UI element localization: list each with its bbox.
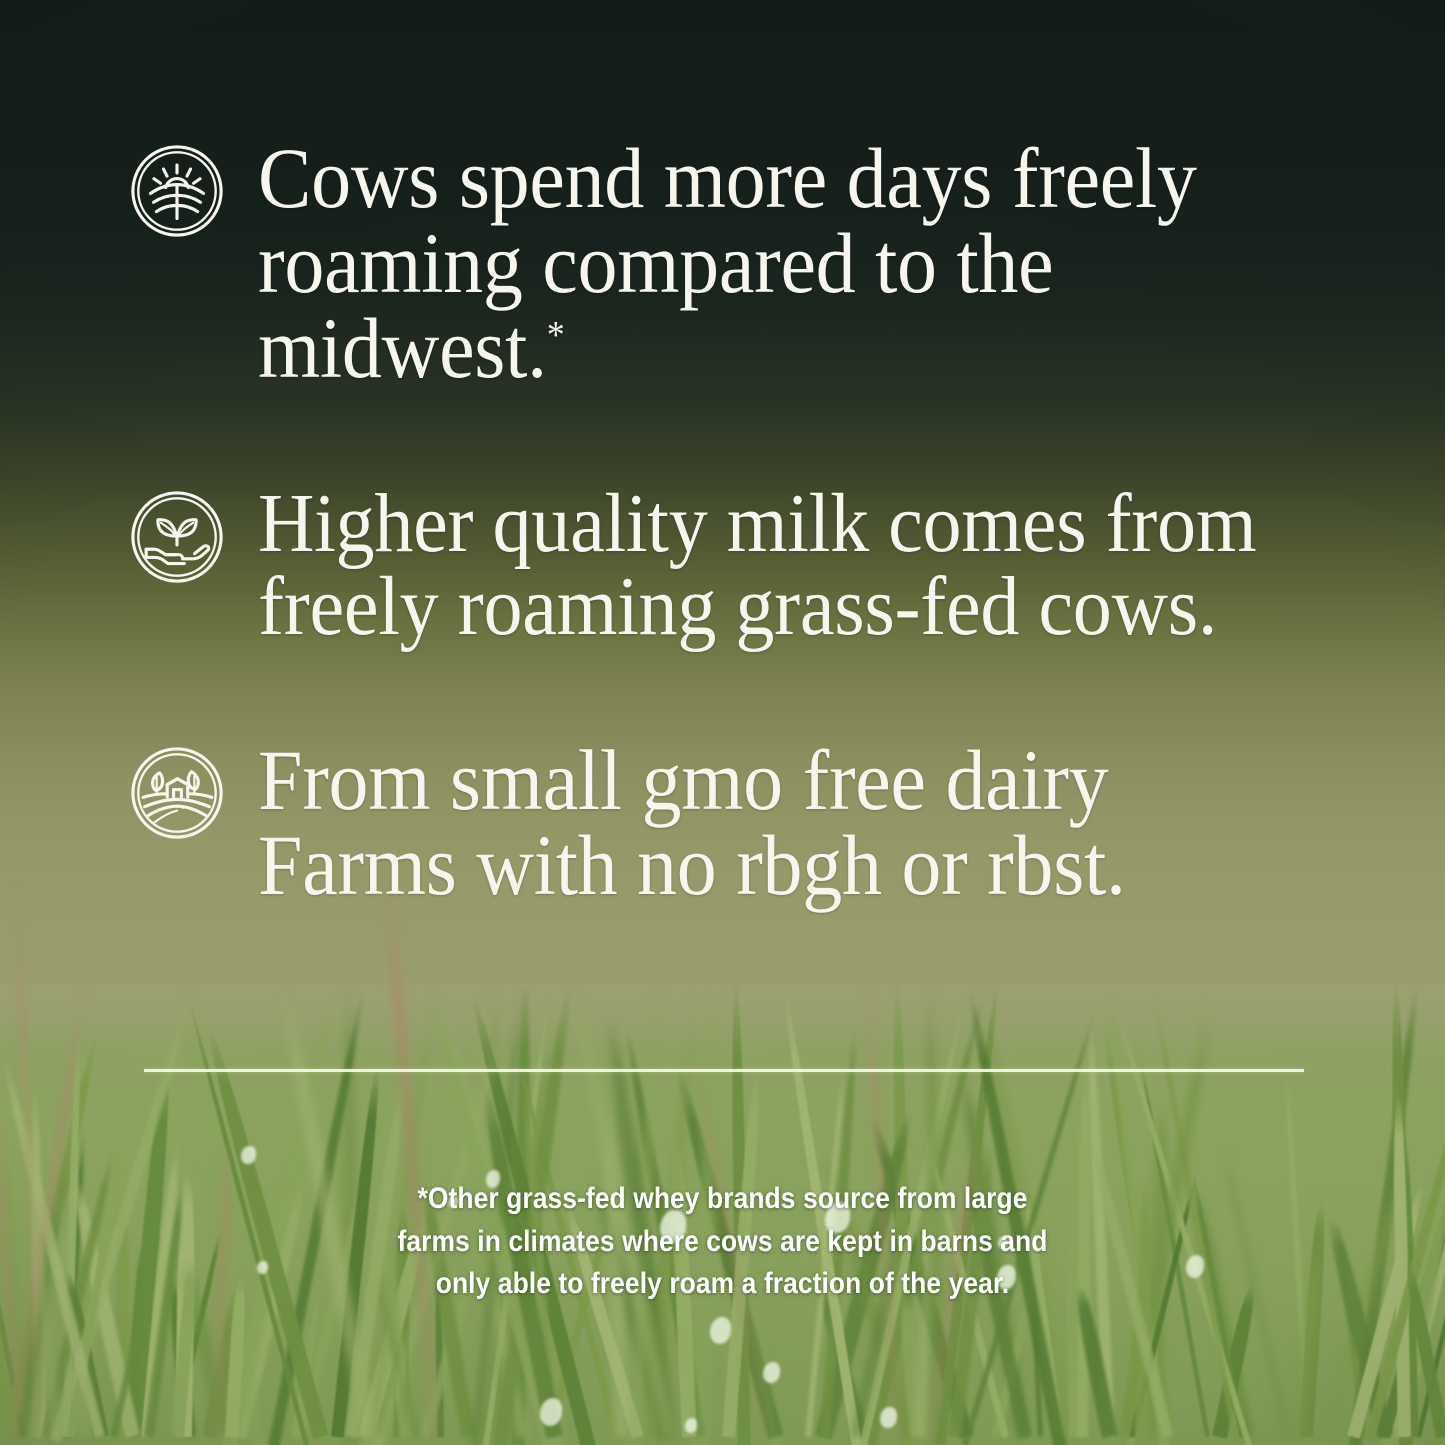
content-layer: Cows spend more days freely roaming comp… <box>0 0 1445 1445</box>
footnote-line-2: farms in climates where cows are kept in… <box>87 1221 1359 1264</box>
claim-text-1: Cows spend more days freely roaming comp… <box>258 136 1197 391</box>
footnote-line-3: only able to freely roam a fraction of t… <box>87 1263 1359 1306</box>
divider-rule <box>144 1069 1304 1072</box>
claim-text-3: From small gmo free dairy Farms with no … <box>258 738 1126 908</box>
claim-item-1: Cows spend more days freely roaming comp… <box>128 136 1385 391</box>
footnote-disclaimer: *Other grass-fed whey brands source from… <box>87 1178 1359 1306</box>
claim-item-2: Higher quality milk comes from freely ro… <box>128 482 1385 648</box>
promotional-graphic: Cows spend more days freely roaming comp… <box>0 0 1445 1445</box>
footnote-marker: * <box>547 315 565 357</box>
farm-barn-field-icon <box>128 744 226 842</box>
claim-item-3: From small gmo free dairy Farms with no … <box>128 738 1385 908</box>
hand-holding-plant-icon <box>128 488 226 586</box>
claim-text-2: Higher quality milk comes from freely ro… <box>258 482 1256 648</box>
footnote-line-1: *Other grass-fed whey brands source from… <box>87 1178 1359 1221</box>
sun-over-field-icon <box>128 142 226 240</box>
